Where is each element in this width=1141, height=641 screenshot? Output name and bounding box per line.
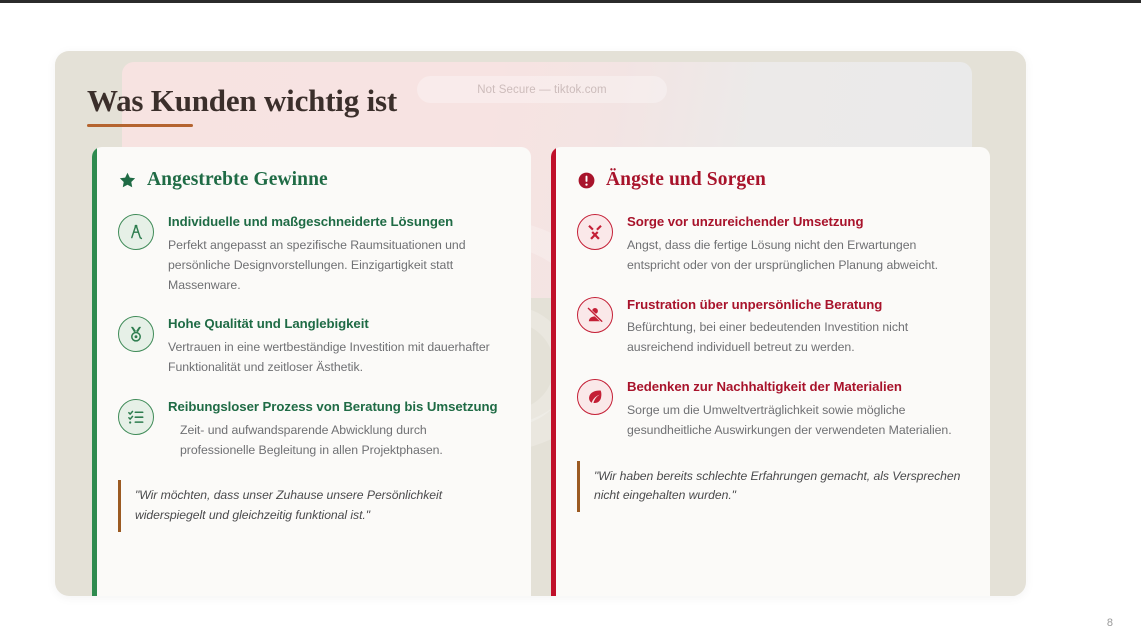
list-item: Bedenken zur Nachhaltigkeit der Material…	[577, 378, 964, 441]
column-accent-bar	[551, 147, 556, 596]
compass-icon	[118, 214, 154, 250]
medal-icon-glyph	[127, 325, 145, 343]
checklist-icon-glyph	[127, 408, 145, 426]
list-item-description: Angst, dass die fertige Lösung nicht den…	[627, 236, 964, 276]
url-watermark-text: Not Secure — tiktok.com	[477, 84, 606, 96]
list-item-title: Bedenken zur Nachhaltigkeit der Material…	[627, 378, 964, 396]
tools-icon-glyph	[586, 223, 604, 241]
list-item-body: Individuelle und maßgeschneiderte Lösung…	[168, 213, 505, 295]
list-item: Individuelle und maßgeschneiderte Lösung…	[118, 213, 505, 295]
list-item: Frustration über unpersönliche Beratung …	[577, 296, 964, 359]
page-number: 8	[1107, 617, 1113, 629]
page-title: Was Kunden wichtig ist	[87, 84, 397, 118]
list-item-title: Reibungsloser Prozess von Beratung bis U…	[168, 398, 505, 416]
columns-container: Angestrebte Gewinne Indivi	[92, 147, 990, 596]
customer-quote-text: "Wir möchten, dass unser Zuhause unsere …	[135, 486, 505, 526]
list-item-description: Befürchtung, bei einer bedeutenden Inves…	[627, 318, 964, 358]
list-item-description: Perfekt angepasst an spezifische Raumsit…	[168, 236, 505, 296]
list-item: Reibungsloser Prozess von Beratung bis U…	[118, 398, 505, 461]
column-heading-gains: Angestrebte Gewinne	[147, 169, 328, 191]
list-item-body: Bedenken zur Nachhaltigkeit der Material…	[627, 378, 964, 441]
tools-icon	[577, 214, 613, 250]
list-item: Sorge vor unzureichender Umsetzung Angst…	[577, 213, 964, 276]
exclamation-circle-icon	[577, 171, 596, 190]
list-item: Hohe Qualität und Langlebigkeit Vertraue…	[118, 315, 505, 378]
url-watermark-pill: Not Secure — tiktok.com	[417, 76, 667, 103]
slide-viewer: Not Secure — tiktok.com Was Kunden wicht…	[0, 0, 1141, 641]
list-item-body: Hohe Qualität und Langlebigkeit Vertraue…	[168, 315, 505, 378]
title-underline	[87, 124, 193, 127]
page-title-wrap: Was Kunden wichtig ist	[87, 84, 397, 127]
leaf-icon-glyph	[586, 388, 604, 406]
list-item-body: Reibungsloser Prozess von Beratung bis U…	[168, 398, 505, 461]
column-gains: Angestrebte Gewinne Indivi	[92, 147, 531, 596]
column-header-fears: Ängste und Sorgen	[577, 169, 964, 191]
slide-card: Not Secure — tiktok.com Was Kunden wicht…	[55, 51, 1026, 596]
list-item-title: Hohe Qualität und Langlebigkeit	[168, 315, 505, 333]
column-heading-fears: Ängste und Sorgen	[606, 169, 766, 191]
list-item-description: Zeit- und aufwandsparende Abwicklung dur…	[168, 421, 505, 461]
list-item-title: Sorge vor unzureichender Umsetzung	[627, 213, 964, 231]
list-item-description: Sorge um die Umweltverträglichkeit sowie…	[627, 401, 964, 441]
column-fears: Ängste und Sorgen Sorge vor unzureichend…	[551, 147, 990, 596]
customer-quote: "Wir möchten, dass unser Zuhause unsere …	[118, 480, 505, 532]
list-item-body: Sorge vor unzureichender Umsetzung Angst…	[627, 213, 964, 276]
list-item-body: Frustration über unpersönliche Beratung …	[627, 296, 964, 359]
list-item-description: Vertrauen in eine wertbeständige Investi…	[168, 338, 505, 378]
customer-quote-text: "Wir haben bereits schlechte Erfahrungen…	[594, 467, 964, 507]
customer-quote: "Wir haben bereits schlechte Erfahrungen…	[577, 461, 964, 513]
column-accent-bar	[92, 147, 97, 596]
star-icon	[118, 171, 137, 190]
column-header-gains: Angestrebte Gewinne	[118, 169, 505, 191]
list-item-title: Individuelle und maßgeschneiderte Lösung…	[168, 213, 505, 231]
browser-chrome-strip	[0, 0, 1141, 3]
checklist-icon	[118, 399, 154, 435]
medal-icon	[118, 316, 154, 352]
user-slash-icon-glyph	[586, 306, 604, 324]
compass-icon-glyph	[127, 223, 145, 241]
leaf-icon	[577, 379, 613, 415]
user-slash-icon	[577, 297, 613, 333]
list-item-title: Frustration über unpersönliche Beratung	[627, 296, 964, 314]
